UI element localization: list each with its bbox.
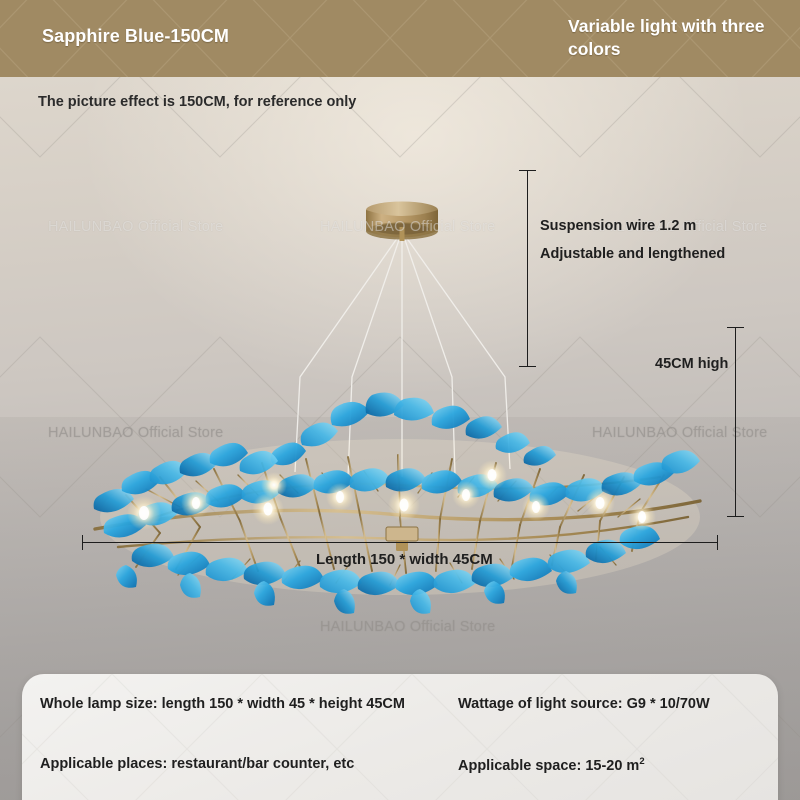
suspension-label-line1: Suspension wire 1.2 m xyxy=(540,218,696,234)
spec-applicable-space-superscript: 2 xyxy=(639,756,644,767)
panel-lattice-pattern-icon xyxy=(22,674,778,800)
banner-title: Sapphire Blue-150CM xyxy=(42,26,229,47)
dim-cap-top xyxy=(727,327,744,328)
dim-line xyxy=(82,542,718,543)
specifications-panel: Whole lamp size: length 150 * width 45 *… xyxy=(22,674,778,800)
dim-line xyxy=(735,327,736,516)
product-infographic: Sapphire Blue-150CM Variable light with … xyxy=(0,0,800,800)
banner-subtitle: Variable light with three colors xyxy=(568,15,783,61)
dim-line xyxy=(527,170,528,366)
spec-applicable-space-text: Applicable space: 15-20 m xyxy=(458,758,639,774)
header-banner: Sapphire Blue-150CM Variable light with … xyxy=(0,0,800,77)
spec-wattage: Wattage of light source: G9 * 10/70W xyxy=(458,696,710,712)
suspension-label-line2: Adjustable and lengthened xyxy=(540,246,725,262)
dim-cap-right xyxy=(717,535,718,550)
length-label: Length 150 * width 45CM xyxy=(316,551,493,568)
dim-cap-top xyxy=(519,170,536,171)
ceiling-canopy-icon xyxy=(366,202,438,242)
spec-lamp-size: Whole lamp size: length 150 * width 45 *… xyxy=(40,696,405,712)
height-label: 45CM high xyxy=(655,356,728,372)
product-scene: The picture effect is 150CM, for referen… xyxy=(0,77,800,800)
dim-cap-bottom xyxy=(519,366,536,367)
spec-applicable-space: Applicable space: 15-20 m2 xyxy=(458,756,645,774)
dim-cap-left xyxy=(82,535,83,550)
spec-applicable-places: Applicable places: restaurant/bar counte… xyxy=(40,756,354,772)
dim-cap-bottom xyxy=(727,516,744,517)
